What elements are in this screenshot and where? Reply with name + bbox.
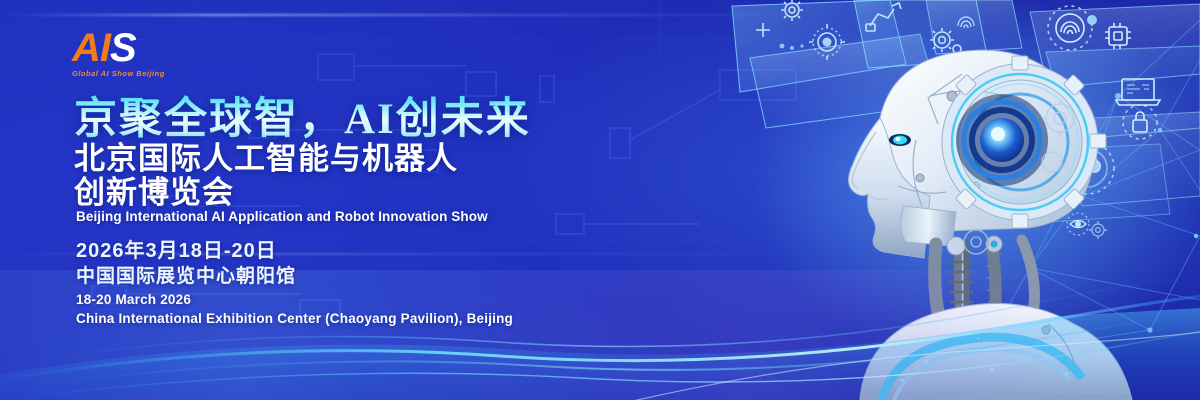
title-chinese-line2: 创新博览会 (74, 176, 458, 210)
event-venue-chinese: 中国国际展览中心朝阳馆 (76, 261, 296, 288)
title-chinese-line1: 北京国际人工智能与机器人 (74, 142, 458, 176)
logo-letter-a: A (72, 26, 100, 70)
title-chinese: 北京国际人工智能与机器人 创新博览会 (74, 142, 458, 210)
ais-logo[interactable]: AIS Global AI Show Beijing (72, 28, 165, 78)
event-date-chinese: 2026年3月18日-20日 (76, 234, 277, 263)
banner-content: AIS Global AI Show Beijing 京聚全球智，AI创未来 北… (72, 0, 772, 400)
event-date-english: 18-20 March 2026 (76, 292, 191, 307)
logo-letter-i: I (100, 26, 110, 70)
logo-tagline: Global AI Show Beijing (72, 69, 165, 78)
event-banner: AIS Global AI Show Beijing 京聚全球智，AI创未来 北… (0, 0, 1200, 400)
headline-slogan: 京聚全球智，AI创未来 (74, 84, 531, 146)
event-venue-english: China International Exhibition Center (C… (76, 311, 513, 326)
logo-letter-s: S (110, 26, 136, 70)
title-english: Beijing International AI Application and… (76, 209, 488, 224)
logo-wordmark: AIS (72, 28, 165, 68)
robot-eye (889, 134, 911, 146)
brain-gear-mechanism (942, 56, 1106, 228)
